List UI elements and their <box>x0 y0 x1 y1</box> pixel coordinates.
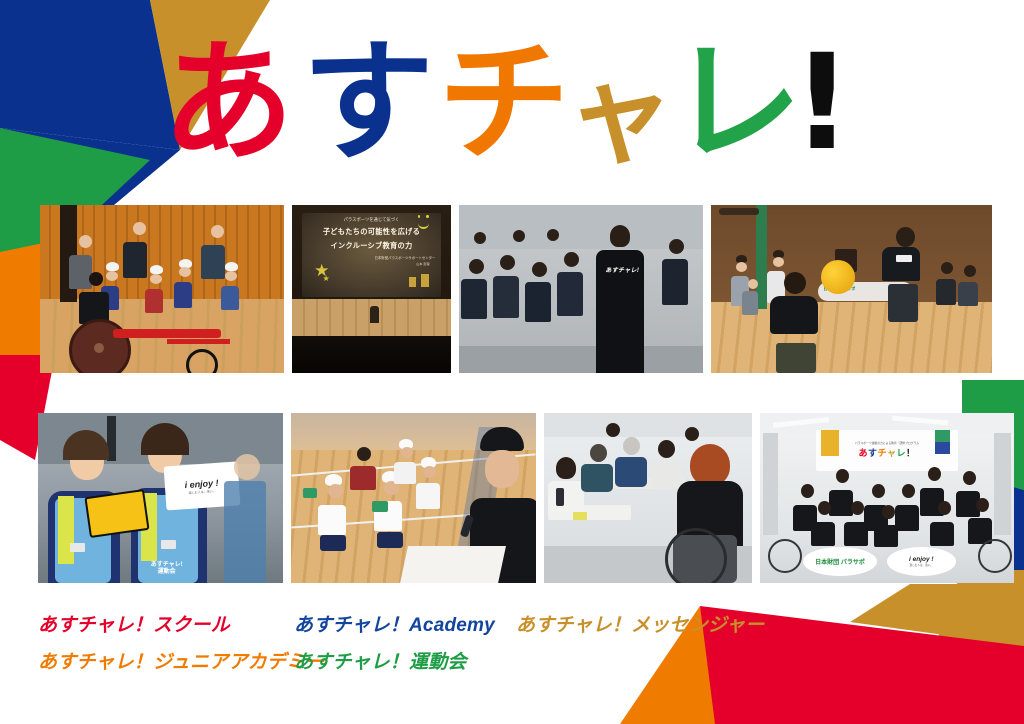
poster-root: あ す チ ャ レ ! <box>0 0 1024 724</box>
program-school[interactable]: あすチャレ！スクール <box>38 616 294 635</box>
logo-char-su: す <box>302 26 434 180</box>
photo-auditorium-lecture-slide: パラスポーツを通じて気づく 子どもたちの可能性を広げる インクルーシブ教育の力 … <box>292 205 451 373</box>
program-academy[interactable]: あすチャレ！Academy <box>294 616 516 635</box>
photo-wheelchair-racer-demo-school-gym <box>40 205 284 373</box>
sponsor-pill-right: i enjoy ! 楽しむ人は、強い。 <box>887 547 956 576</box>
program-junior-academy[interactable]: あすチャレ！ジュニアアカデミー <box>38 653 294 672</box>
photo-row-bottom: i enjoy ! 楽しむ人は、強い。 あすチャレ!運動会 <box>38 413 1012 585</box>
logo-char-re: レ <box>670 26 802 180</box>
photo-group-photo-heart-pose: パラスポーツ運動の力による教育・研修プログラム あすチャレ！ <box>760 413 1014 583</box>
presentation-slide: パラスポーツを通じて気づく 子どもたちの可能性を広げる インクルーシブ教育の力 … <box>302 213 442 297</box>
slide-line-2: インクルーシブ教育の力 <box>302 241 442 252</box>
logo: あ す チ ャ レ ! <box>0 14 1024 189</box>
asuchalle-logo: あ す チ ャ レ ! <box>162 22 862 182</box>
logo-char-chi: チ <box>438 26 570 180</box>
sponsor-pill-left-text: 日本財団 パラサポ <box>815 557 865 566</box>
program-label-row-2: あすチャレ！ジュニアアカデミー あすチャレ！運動会 <box>38 653 798 672</box>
logo-char-a: あ <box>162 26 294 180</box>
wheelchair-wheel <box>665 528 727 583</box>
logo-char-exclamation: ! <box>792 26 852 180</box>
photo-roundtable-discussion-wheelchair <box>544 413 752 583</box>
photo-students-audience-staff-talk: あすチャレ! <box>459 205 703 373</box>
program-sports-day[interactable]: あすチャレ！運動会 <box>294 653 516 672</box>
yellow-ball <box>821 260 855 294</box>
enjoy-sign-subtext: 楽しむ人は、強い。 <box>189 489 216 495</box>
sponsor-pill-right-text: i enjoy ! <box>909 556 934 563</box>
banner-subtitle: パラスポーツ運動の力による教育・研修プログラム <box>855 441 919 445</box>
photo-cheer-squad-enjoy-sign: i enjoy ! 楽しむ人は、強い。 あすチャレ!運動会 <box>38 413 283 583</box>
sponsor-pill-left: 日本財団 パラサポ <box>803 547 877 576</box>
photo-row-top: パラスポーツを通じて気づく 子どもたちの可能性を広げる インクルーシブ教育の力 … <box>40 205 1012 375</box>
banner-title: あすチャレ！ <box>858 446 915 459</box>
slide-bar-tall <box>421 274 429 287</box>
vest-program-text: あすチャレ!運動会 <box>151 562 183 576</box>
slide-bar-short <box>409 277 416 287</box>
photo-ball-game-gym-demo: 日本財団パラサポ <box>711 205 992 373</box>
photo-children-seated-workshop <box>291 413 536 583</box>
cheer-sign <box>84 489 150 538</box>
star-small-icon: ★ <box>323 275 330 283</box>
sponsor-pill-right-subtext: 楽しむ人は、強い。 <box>910 563 933 567</box>
program-messenger[interactable]: あすチャレ！メッセンジャー <box>516 616 764 635</box>
logo-char-ya: ャ <box>566 53 674 178</box>
staff-shirt-logo: あすチャレ! <box>605 265 639 274</box>
audience-silhouette <box>292 336 451 373</box>
program-label-list: あすチャレ！スクール あすチャレ！Academy あすチャレ！メッセンジャー あ… <box>38 616 798 672</box>
program-label-row-1: あすチャレ！スクール あすチャレ！Academy あすチャレ！メッセンジャー <box>38 616 798 635</box>
stage-speaker <box>370 306 379 323</box>
